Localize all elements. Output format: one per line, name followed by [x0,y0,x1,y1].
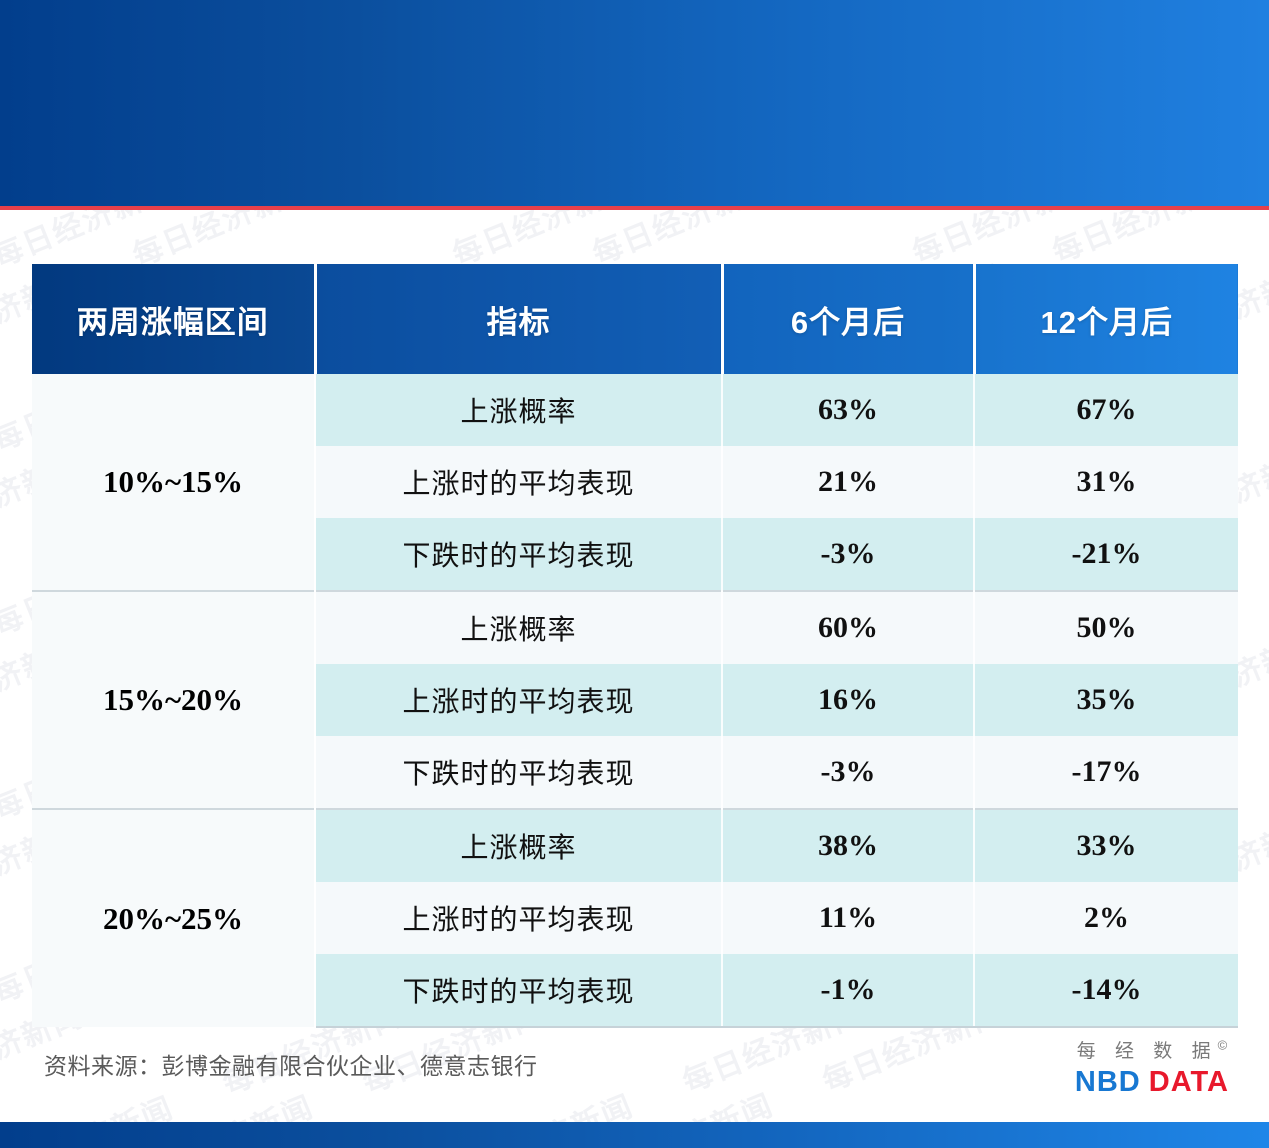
value-6m: -3% [722,518,974,591]
source-note: 资料来源：彭博金融有限合伙企业、德意志银行 [44,1047,538,1081]
metric-cell: 上涨概率 [315,809,722,882]
table-body: 10%~15% 上涨概率 63% 67% 上涨时的平均表现 21% 31% 下跌… [32,374,1238,1027]
value-6m: 11% [722,882,974,954]
table-header: 两周涨幅区间 指标 6个月后 12个月后 [32,264,1238,374]
value-12m: 31% [974,446,1238,518]
column-header-metric: 指标 [315,264,722,374]
value-12m: 33% [974,809,1238,882]
data-table-container: 两周涨幅区间 指标 6个月后 12个月后 10%~15% 上涨概率 63% 67… [32,264,1238,1028]
value-6m: 21% [722,446,974,518]
metric-cell: 上涨概率 [315,591,722,664]
value-6m: 63% [722,374,974,446]
brand-nbd-text: NBD [1075,1066,1141,1098]
metric-cell: 上涨时的平均表现 [315,446,722,518]
value-12m: 50% [974,591,1238,664]
value-12m: -17% [974,736,1238,809]
value-12m: -14% [974,954,1238,1027]
table-row: 10%~15% 上涨概率 63% 67% [32,374,1238,446]
gold-performance-table: 两周涨幅区间 指标 6个月后 12个月后 10%~15% 上涨概率 63% 67… [32,264,1238,1028]
brand-logo: 每 经 数 据© NBDDATA [1075,1036,1229,1099]
value-6m: -1% [722,954,974,1027]
table-header-row: 两周涨幅区间 指标 6个月后 12个月后 [32,264,1238,374]
group-label-2: 15%~20% [32,591,315,809]
metric-cell: 下跌时的平均表现 [315,954,722,1027]
group-label-3: 20%~25% [32,809,315,1027]
metric-cell: 下跌时的平均表现 [315,518,722,591]
metric-cell: 上涨时的平均表现 [315,882,722,954]
value-12m: 35% [974,664,1238,736]
copyright-icon: © [1218,1038,1228,1053]
metric-cell: 下跌时的平均表现 [315,736,722,809]
metric-cell: 上涨概率 [315,374,722,446]
column-header-6m: 6个月后 [722,264,974,374]
value-12m: 2% [974,882,1238,954]
value-6m: -3% [722,736,974,809]
brand-cn-text: 每 经 数 据 [1077,1041,1218,1062]
value-6m: 16% [722,664,974,736]
header-band [0,0,1269,206]
footer-accent-bar [0,1122,1269,1148]
table-row: 20%~25% 上涨概率 38% 33% [32,809,1238,882]
table-row: 15%~20% 上涨概率 60% 50% [32,591,1238,664]
value-12m: -21% [974,518,1238,591]
metric-cell: 上涨时的平均表现 [315,664,722,736]
value-12m: 67% [974,374,1238,446]
brand-chinese-name: 每 经 数 据© [1075,1036,1229,1063]
group-label-1: 10%~15% [32,374,315,591]
value-6m: 38% [722,809,974,882]
brand-data-text: DATA [1149,1066,1229,1098]
column-header-range: 两周涨幅区间 [32,264,315,374]
brand-english-name: NBDDATA [1075,1066,1229,1099]
column-header-12m: 12个月后 [974,264,1238,374]
header-accent-rule [0,206,1269,210]
value-6m: 60% [722,591,974,664]
